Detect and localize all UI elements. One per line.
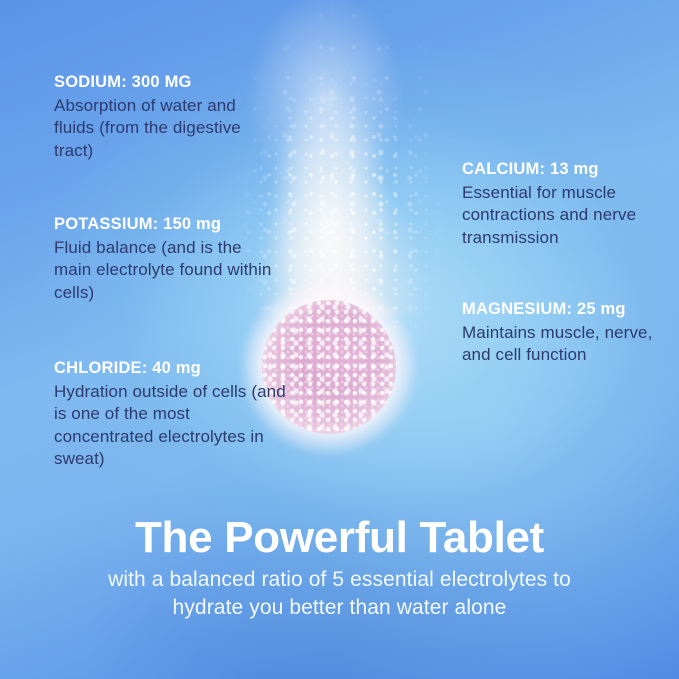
nutrient-description-potassium: Fluid balance (and is the main electroly… — [54, 237, 276, 305]
subline-line-1: with a balanced ratio of 5 essential ele… — [28, 566, 651, 593]
nutrient-callout-magnesium: MAGNESIUM: 25 mg Maintains muscle, nerve… — [462, 299, 677, 367]
nutrient-description-calcium: Essential for muscle contractions and ne… — [462, 182, 677, 250]
nutrient-callout-sodium: SODIUM: 300 MG Absorption of water and f… — [54, 72, 269, 162]
footer-tagline: The Powerful Tablet with a balanced rati… — [0, 513, 679, 621]
nutrient-label-potassium: POTASSIUM: 150 mg — [54, 214, 276, 235]
subline-line-2: hydrate you better than water alone — [28, 594, 651, 621]
nutrient-description-chloride: Hydration outside of cells (and is one o… — [54, 381, 289, 471]
nutrient-description-sodium: Absorption of water and fluids (from the… — [54, 95, 269, 163]
subline: with a balanced ratio of 5 essential ele… — [28, 566, 651, 621]
nutrient-label-chloride: CHLORIDE: 40 mg — [54, 358, 289, 379]
nutrient-description-magnesium: Maintains muscle, nerve, and cell functi… — [462, 322, 677, 367]
nutrient-callout-calcium: CALCIUM: 13 mg Essential for muscle cont… — [462, 159, 677, 249]
nutrient-callout-potassium: POTASSIUM: 150 mg Fluid balance (and is … — [54, 214, 276, 304]
nutrient-label-sodium: SODIUM: 300 MG — [54, 72, 269, 93]
nutrient-label-calcium: CALCIUM: 13 mg — [462, 159, 677, 180]
nutrient-callout-chloride: CHLORIDE: 40 mg Hydration outside of cel… — [54, 358, 289, 471]
headline: The Powerful Tablet — [28, 513, 651, 562]
product-infographic: SODIUM: 300 MG Absorption of water and f… — [0, 0, 679, 679]
nutrient-label-magnesium: MAGNESIUM: 25 mg — [462, 299, 677, 320]
